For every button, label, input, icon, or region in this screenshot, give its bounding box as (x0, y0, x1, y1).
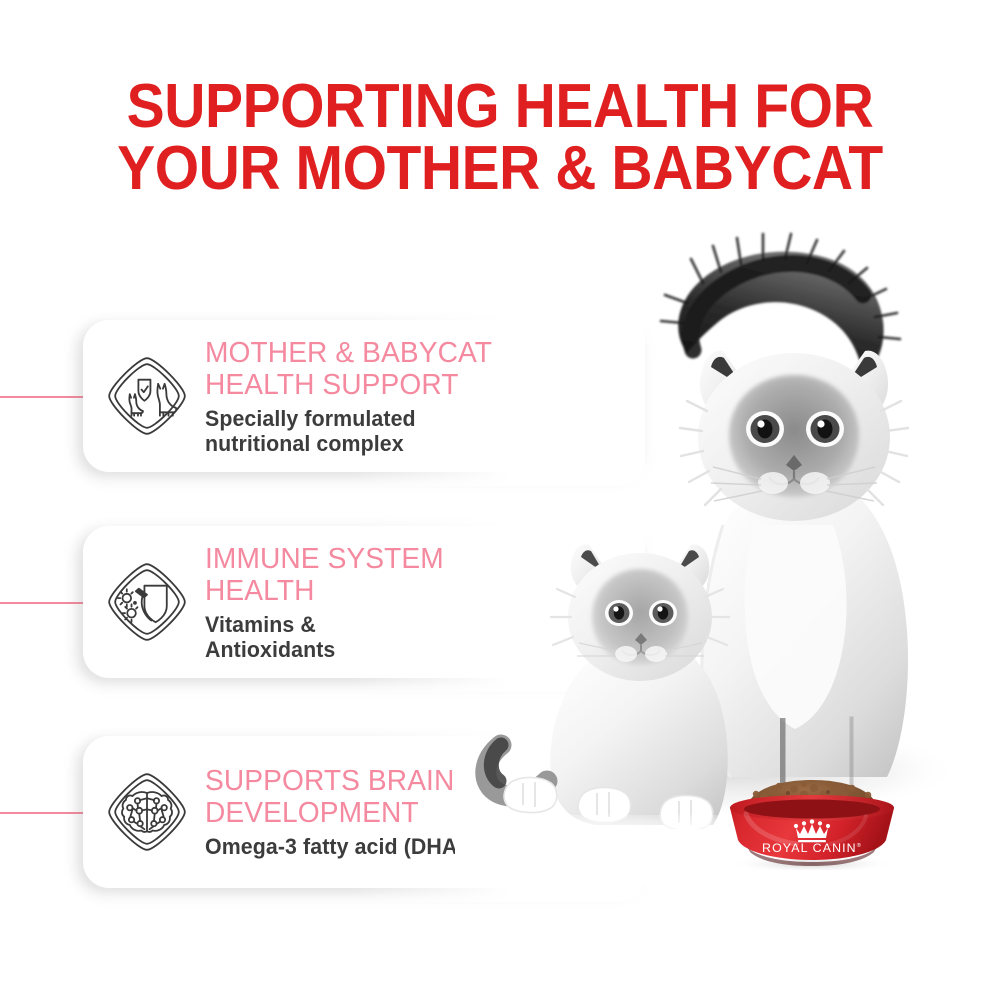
royal-canin-food-bowl: ROYAL CANIN® (716, 778, 908, 870)
feature-card-text: MOTHER & BABYCAT HEALTH SUPPORT Speciall… (199, 337, 643, 456)
promo-page: SUPPORTING HEALTH FOR YOUR MOTHER & BABY… (0, 0, 1000, 1000)
feature-card-text: SUPPORTS BRAIN DEVELOPMENT Omega-3 fatty… (199, 765, 643, 859)
feature-card-brain-development: SUPPORTS BRAIN DEVELOPMENT Omega-3 fatty… (83, 736, 643, 888)
feature-title: IMMUNE SYSTEM HEALTH (205, 543, 620, 607)
feature-card-text: IMMUNE SYSTEM HEALTH Vitamins & Antioxid… (199, 543, 643, 662)
connector-line-3 (0, 812, 83, 814)
shield-check-cats-icon (95, 353, 199, 439)
feature-card-health-support: MOTHER & BABYCAT HEALTH SUPPORT Speciall… (83, 320, 643, 472)
page-title: SUPPORTING HEALTH FOR YOUR MOTHER & BABY… (40, 76, 960, 200)
brain-icon (95, 769, 199, 855)
feature-subtitle: Omega-3 fatty acid (DHA) (205, 834, 620, 859)
trademark-symbol: ® (857, 842, 862, 849)
feature-card-immune-system: IMMUNE SYSTEM HEALTH Vitamins & Antioxid… (83, 526, 643, 678)
connector-line-2 (0, 602, 83, 604)
headline-line-2: YOUR MOTHER & BABYCAT (40, 138, 960, 200)
headline-line-1: SUPPORTING HEALTH FOR (40, 76, 960, 138)
feature-title: SUPPORTS BRAIN DEVELOPMENT (205, 765, 620, 829)
royal-canin-wordmark: ROYAL CANIN® (762, 841, 862, 855)
feature-subtitle: Specially formulated nutritional complex (205, 406, 620, 456)
connector-line-1 (0, 396, 83, 398)
feature-title: MOTHER & BABYCAT HEALTH SUPPORT (205, 337, 620, 401)
feature-subtitle: Vitamins & Antioxidants (205, 612, 620, 662)
shield-germs-icon (95, 559, 199, 645)
brand-text: ROYAL CANIN (762, 841, 857, 855)
